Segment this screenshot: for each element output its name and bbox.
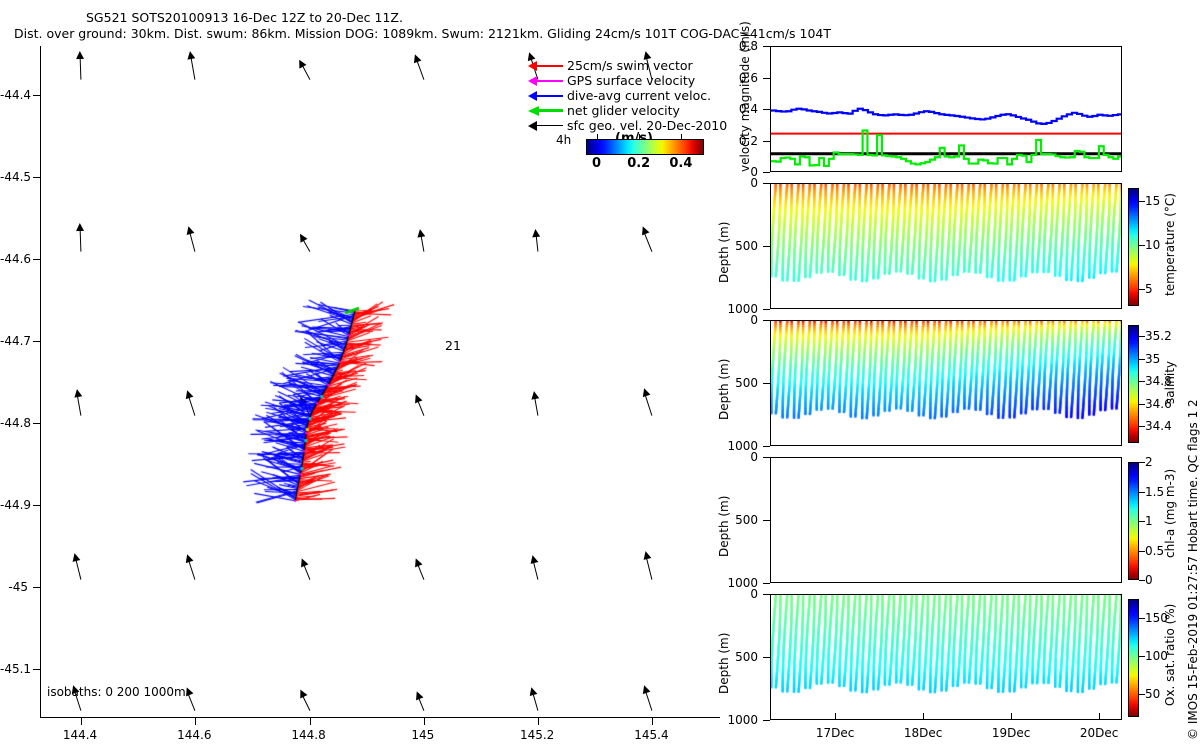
map-y-tick [33, 505, 41, 506]
legend-arrow-icon [528, 76, 564, 86]
map-x-tick-label: 144.8 [291, 728, 325, 742]
depth-tick [763, 657, 770, 658]
oxygen-saturation-section-panel[interactable] [770, 594, 1122, 720]
map-y-tick [33, 341, 41, 342]
colorbar-tick-label: 35.2 [1145, 329, 1172, 343]
temperature-section-panel[interactable] [770, 183, 1122, 309]
temperature-colorbar [1128, 188, 1139, 306]
page-title-line1: SG521 SOTS20100913 16-Dec 12Z to 20-Dec … [86, 10, 403, 25]
velocity-y-tick [763, 172, 770, 173]
depth-tick-label: 0 [724, 176, 758, 190]
depth-tick-label: 0 [724, 450, 758, 464]
time-tick [923, 713, 924, 720]
oxygen-colorbar [1128, 599, 1139, 717]
chlorophyll-scatter [771, 458, 1121, 582]
velocity-y-tick [763, 78, 770, 79]
colorbar-tick-label: 5 [1145, 282, 1153, 296]
map-colorbar-tick [681, 134, 682, 139]
temperature-y-axis-label: Depth (m) [717, 222, 731, 283]
map-x-tick-label: 145.4 [634, 728, 668, 742]
depth-tick-label: 1000 [724, 713, 758, 727]
legend-item-label: net glider velocity [567, 103, 680, 118]
time-tick-label: 18Dec [904, 726, 943, 740]
map-x-tick [538, 717, 539, 725]
map-y-tick-label: -45.1 [0, 662, 28, 676]
velocity-y-tick [763, 109, 770, 110]
map-x-tick [81, 717, 82, 725]
oxygen-y-axis-label: Depth (m) [717, 633, 731, 694]
depth-tick [763, 720, 770, 721]
map-x-tick [310, 717, 311, 725]
depth-tick [763, 320, 770, 321]
colorbar-tick-label: 2 [1145, 455, 1153, 469]
legend-item-label: GPS surface velocity [567, 73, 695, 88]
map-colorbar [586, 139, 704, 155]
chlorophyll-colorbar [1128, 462, 1139, 580]
temperature-colorbar-label: temperature (°C) [1163, 193, 1177, 296]
depth-tick [763, 383, 770, 384]
colorbar-tick-label: 10 [1145, 238, 1160, 252]
map-colorbar-tick-label: 0.4 [669, 156, 692, 171]
temperature-scatter [771, 184, 1121, 308]
colorbar-tick-label: 15 [1145, 194, 1160, 208]
colorbar-tick-label: 34.4 [1145, 419, 1172, 433]
velocity-series-line [771, 109, 1121, 124]
map-x-tick [195, 717, 196, 725]
salinity-y-axis-label: Depth (m) [717, 359, 731, 420]
map-colorbar-tick-label: 0.2 [627, 156, 650, 171]
map-y-tick-label: -44.4 [0, 88, 28, 102]
map-x-tick [652, 717, 653, 725]
legend-arrow-icon [528, 91, 564, 101]
map-y-tick-label: -45 [0, 580, 28, 594]
legend-arrow-icon [528, 61, 564, 71]
map-y-tick-label: -44.8 [0, 416, 28, 430]
map-y-tick [33, 177, 41, 178]
legend-item: dive-avg current veloc. [528, 88, 768, 103]
map-x-tick-label: 144.4 [63, 728, 97, 742]
map-colorbar-tick [597, 134, 598, 139]
oxygen-colorbar-label: Ox. sat. ratio (%) [1163, 604, 1177, 706]
velocity-magnitude-panel[interactable] [770, 46, 1122, 172]
salinity-section-panel[interactable] [770, 320, 1122, 446]
depth-tick [763, 183, 770, 184]
map-y-tick [33, 587, 41, 588]
map-legend: 25cm/s swim vectorGPS surface velocitydi… [528, 58, 768, 133]
oxygen-scatter [771, 595, 1121, 719]
temperature-plot-area [771, 184, 1121, 308]
velocity-magnitude-plot-area [771, 47, 1121, 171]
colorbar-tick-label: 1 [1145, 514, 1153, 528]
map-x-tick [424, 717, 425, 725]
map-y-tick-label: -44.9 [0, 498, 28, 512]
legend-item-label: dive-avg current veloc. [567, 88, 711, 103]
colorbar-tick-label: 35 [1145, 352, 1160, 366]
salinity-colorbar-label: salinity [1163, 361, 1177, 404]
map-colorbar-tick-label: 0 [592, 156, 601, 171]
map-y-tick-label: -44.6 [0, 252, 28, 266]
oxygen-plot-area [771, 595, 1121, 719]
time-tick-label: 19Dec [992, 726, 1031, 740]
map-colorbar-tick [639, 134, 640, 139]
isobaths-note: isobaths: 0 200 1000m [47, 685, 186, 699]
scale-bar-4h-label: 4h [556, 133, 571, 147]
map-x-tick-label: 144.6 [177, 728, 211, 742]
depth-tick [763, 457, 770, 458]
time-tick [1011, 713, 1012, 720]
chlorophyll-section-panel[interactable] [770, 457, 1122, 583]
chlorophyll-y-axis-label: Depth (m) [717, 496, 731, 557]
velocity-magnitude-y-axis-label: velocity magnitude (m/s) [738, 21, 752, 172]
colorbar-tick-label: 50 [1145, 687, 1160, 701]
depth-tick [763, 520, 770, 521]
map-y-tick [33, 423, 41, 424]
time-tick [835, 713, 836, 720]
depth-tick [763, 246, 770, 247]
velocity-y-tick [763, 141, 770, 142]
depth-tick-label: 0 [724, 313, 758, 327]
velocity-y-tick [763, 46, 770, 47]
depth-tick [763, 309, 770, 310]
legend-arrow-icon [528, 121, 564, 131]
legend-arrow-icon [528, 106, 564, 116]
velocity-series-line [771, 130, 1121, 168]
track-dive-number-label: 21 [445, 338, 461, 353]
colorbar-tick-label: 1.5 [1145, 485, 1164, 499]
time-tick [1099, 713, 1100, 720]
depth-tick-label: 0 [724, 587, 758, 601]
map-x-tick-label: 145.2 [520, 728, 554, 742]
colorbar-tick-label: 0 [1145, 573, 1153, 587]
chlorophyll-colorbar-label: chl-a (mg m-3) [1163, 469, 1177, 558]
time-tick-label: 17Dec [816, 726, 855, 740]
time-tick-label: 20Dec [1080, 726, 1119, 740]
salinity-plot-area [771, 321, 1121, 445]
legend-item-label: 25cm/s swim vector [567, 58, 693, 73]
map-y-tick [33, 259, 41, 260]
page-title-line2: Dist. over ground: 30km. Dist. swum: 86k… [14, 26, 831, 41]
depth-tick [763, 446, 770, 447]
salinity-colorbar [1128, 325, 1139, 443]
map-y-tick-label: -44.5 [0, 170, 28, 184]
map-x-tick-label: 145 [411, 728, 434, 742]
chlorophyll-plot-area [771, 458, 1121, 582]
colorbar-tick-label: 0.5 [1145, 544, 1164, 558]
map-y-tick [33, 669, 41, 670]
salinity-scatter [771, 321, 1121, 445]
depth-tick [763, 594, 770, 595]
map-y-tick-label: -44.7 [0, 334, 28, 348]
map-y-tick [33, 95, 41, 96]
imos-credit: © IMOS 15-Feb-2019 01:27:57 Hobart time.… [1186, 399, 1200, 740]
depth-tick [763, 583, 770, 584]
